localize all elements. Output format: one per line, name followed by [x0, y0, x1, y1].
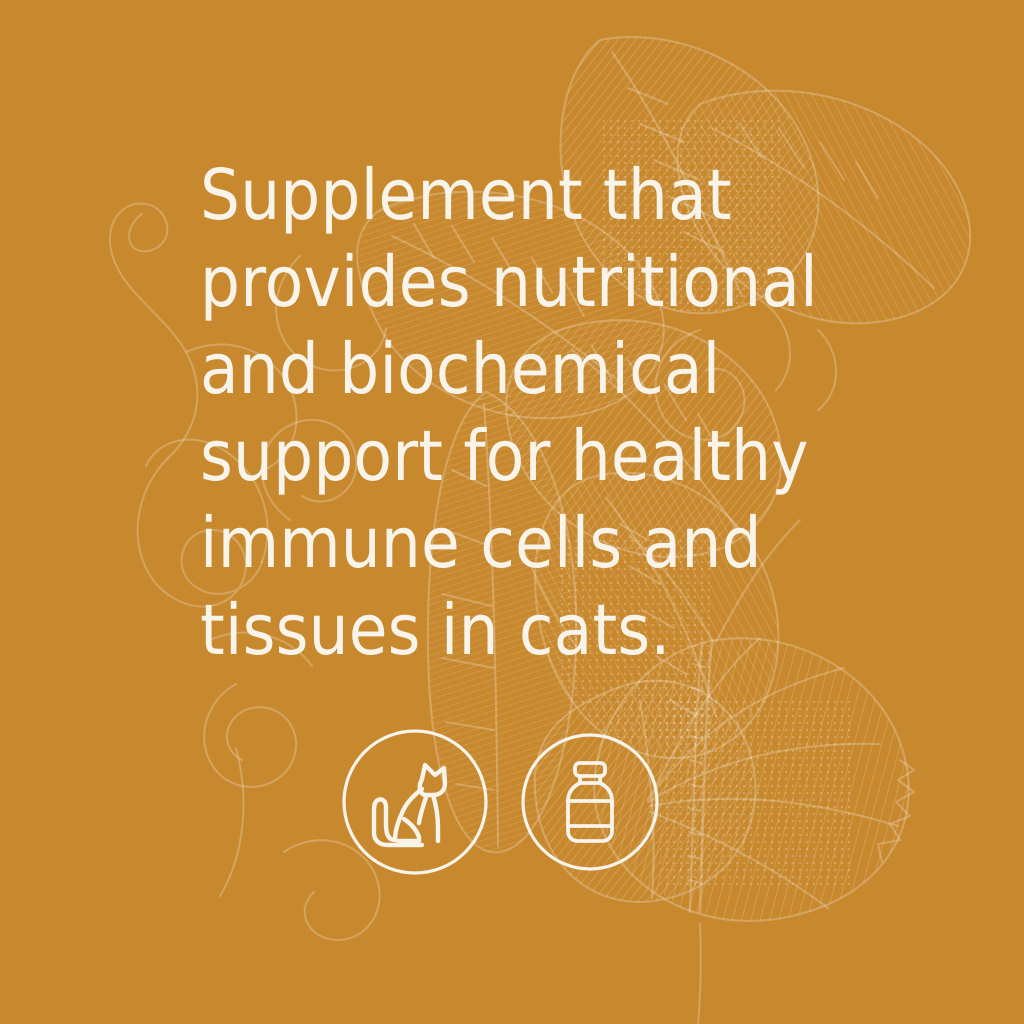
cat-icon [340, 727, 490, 877]
headline-text: Supplement that provides nutritional and… [200, 152, 900, 674]
supplement-bottle-icon [519, 731, 661, 873]
icon-row [340, 727, 661, 877]
promo-card: Supplement that provides nutritional and… [0, 0, 1024, 1024]
